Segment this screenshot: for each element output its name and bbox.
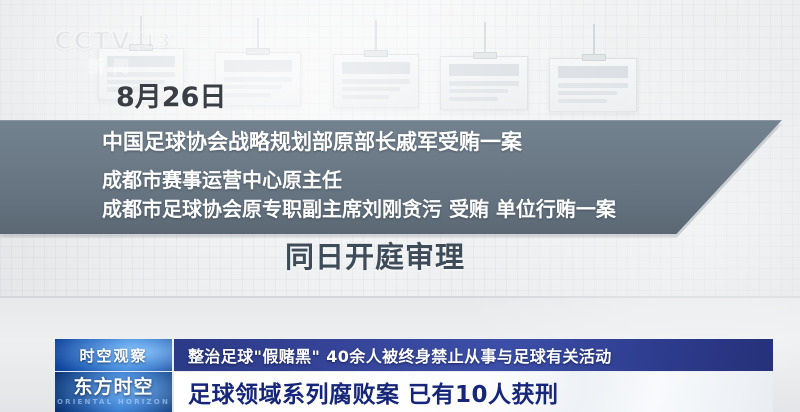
banner-text-block: 中国足球协会战略规划部原部长戚军受贿一案 成都市赛事运营中心原主任 成都市足球协… (102, 124, 782, 219)
banner-line-3: 成都市足球协会原专职副主席刘刚贪污 受贿 单位行贿一案 (102, 199, 782, 219)
lower-third-graphic: 时空观察 整治足球"假赌黑" 40余人被终身禁止从事与足球有关活动 东方时空 O… (55, 339, 773, 412)
date-caption: 8月26日 (116, 84, 226, 111)
sub-caption: 同日开庭审理 (285, 243, 465, 272)
news-main-title: 足球领域系列腐败案 已有10人获刑 (174, 372, 773, 412)
news-headline: 整治足球"假赌黑" 40余人被终身禁止从事与足球有关活动 (174, 339, 773, 371)
broadcast-frame: CCTV13 新闻 8月26日 中国足球协会战略规划部原部长戚军受贿一案 成都市… (0, 0, 800, 412)
program-segment-tag: 时空观察 (55, 339, 172, 371)
banner-line-1: 中国足球协会战略规划部原部长戚军受贿一案 (102, 132, 782, 153)
lower-third-top-row: 时空观察 整治足球"假赌黑" 40余人被终身禁止从事与足球有关活动 (55, 339, 773, 371)
show-logo-english: ORIENTAL HORIZON (57, 399, 170, 406)
case-banner: 中国足球协会战略规划部原部长戚军受贿一案 成都市赛事运营中心原主任 成都市足球协… (0, 120, 782, 234)
lower-third-bottom-row: 东方时空 ORIENTAL HORIZON 足球领域系列腐败案 已有10人获刑 (55, 372, 773, 412)
banner-line-2: 成都市赛事运营中心原主任 (102, 170, 782, 190)
show-logo: 东方时空 ORIENTAL HORIZON (55, 372, 172, 412)
show-logo-chinese: 东方时空 (73, 378, 153, 397)
